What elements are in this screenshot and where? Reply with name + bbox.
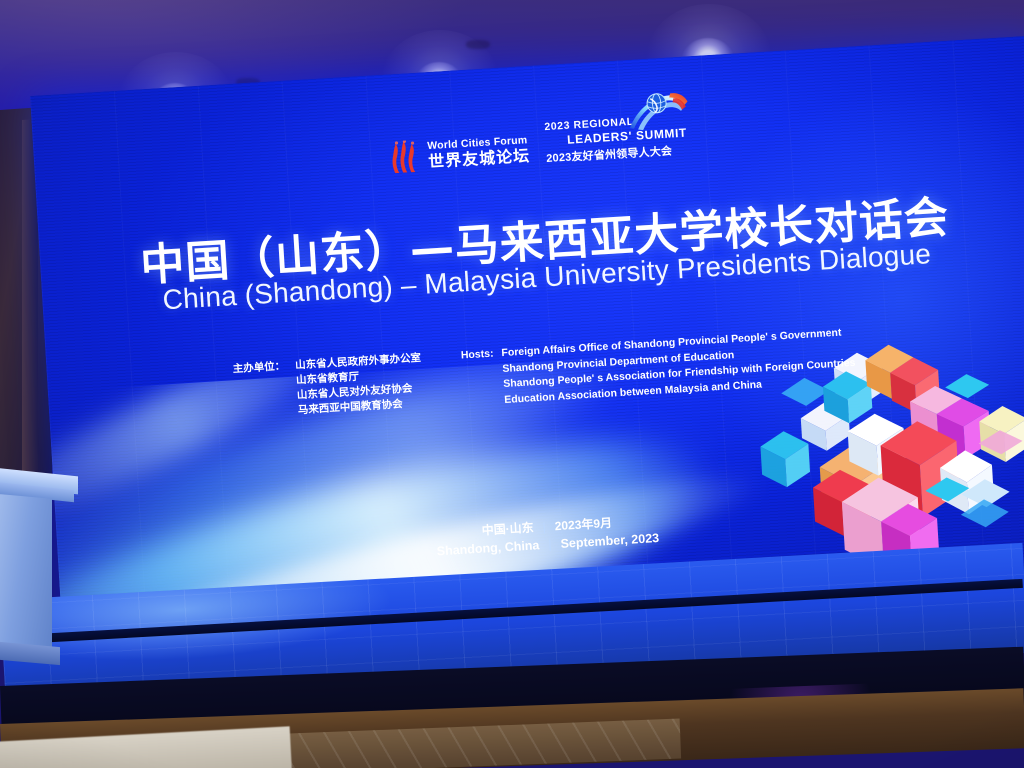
speaker-podium xyxy=(0,472,80,662)
ceiling-vent xyxy=(466,40,490,49)
podium-body xyxy=(0,493,52,658)
conference-hall-scene: World Cities Forum 世界友城论坛 xyxy=(0,0,1024,768)
